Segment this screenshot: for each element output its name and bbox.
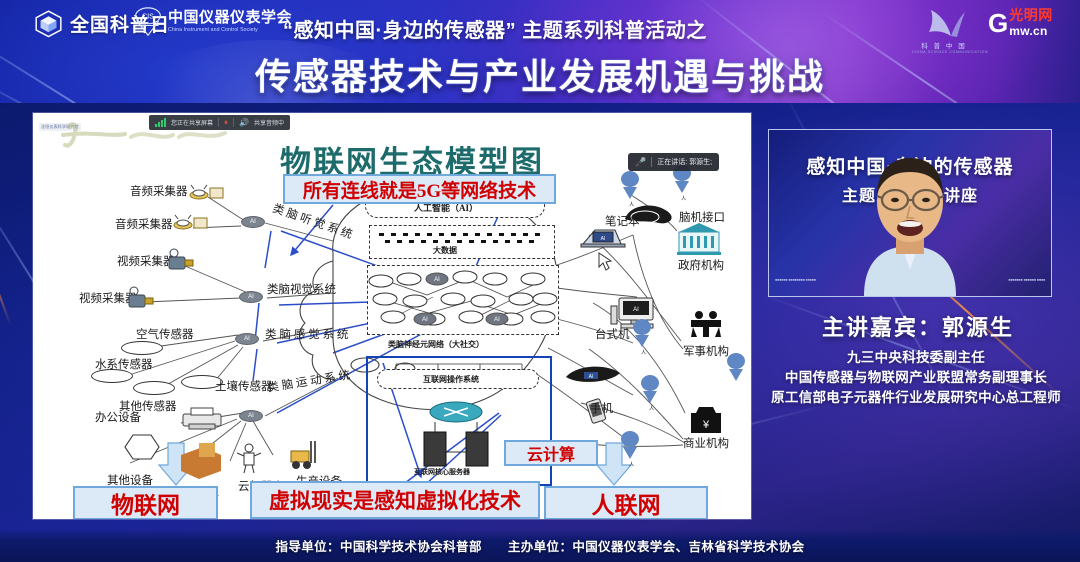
label-audio-collector-1: 音频采集器 [130,183,188,199]
callout-iot: 物联网 [73,486,218,519]
label-water-sensor: 水系传感器 [95,356,153,372]
signal-icon [155,119,166,127]
divider [233,118,234,127]
ai-node: AI [241,216,265,228]
label-audio-collector-2: 音频采集器 [115,216,173,232]
sensor-ellipse [121,341,163,355]
share-status-text: 您正在共享屏幕 [171,118,213,127]
bigdata-dots [369,225,555,259]
share-audio-text: 共享音频中 [254,118,284,127]
logo-science-china-en: CHINA SCIENCE COMMUNICATION [912,50,976,54]
divider [218,118,219,127]
label-video-collector-2: 视频采集器 [79,290,137,306]
ai-node: AI [239,291,263,303]
label-video-collector-1: 视频采集器 [117,253,175,269]
sensor-ellipse [133,381,175,395]
speaker-person-image [846,146,974,296]
svg-text:CIS: CIS [142,13,154,20]
label-person: 人 [649,405,654,412]
label-bci: 脑机接口 [679,209,725,225]
divider [651,157,652,167]
label-air-sensor: 空气传感器 [136,326,194,342]
stage-background: 沈阳仪表科学研究院 您正在共享屏幕 ⏸ 🔊 共享音频中 🎤 正在讲话: 郭源生;… [0,103,1080,562]
page-header: 全国科普日 CIS 中国仪器仪表学会 China Instrument and … [0,0,1080,103]
microphone-icon: 🎤 [635,157,646,168]
label-office-equipment: 办公设备 [95,409,141,425]
pause-share-icon[interactable]: ⏸ [224,119,228,127]
footer-guide-unit: 指导单位：中国科学技术协会科普部 [275,536,481,555]
active-speaker-text: 正在讲话: 郭源生; [657,157,712,167]
callout-vr: 虚拟现实是感知虚拟化技术 [250,481,540,519]
speaker-title-line: 原工信部电子元器件行业发展研究中心总工程师 [752,388,1080,408]
svg-text:AI: AI [494,317,500,323]
svg-text:AI: AI [434,277,440,283]
label-person: 人 [629,201,634,208]
logo-science-china: 科 普 中 国 CHINA SCIENCE COMMUNICATION [912,8,976,54]
logo-cis-en: China Instrument and Control Society [168,28,292,33]
speaker-video-tile[interactable]: 感知中国·身边的传感器 主题系列科普讲座 ■■■■■■ ■■■■■■■■ ■■■… [768,129,1052,297]
shared-screen-slide[interactable]: 沈阳仪表科学研究院 您正在共享屏幕 ⏸ 🔊 共享音频中 🎤 正在讲话: 郭源生;… [33,113,751,519]
header-main-title: 传感器技术与产业发展机遇与挑战 [0,48,1080,100]
callout-people-net: 人联网 [544,486,708,519]
header-subtitle: “感知中国·身边的传感器” 主题系列科普活动之 [283,14,803,43]
ai-node: AI [239,410,263,422]
active-speaker-chip: 🎤 正在讲话: 郭源生; [628,153,719,171]
label-laptop: 笔记本 [605,213,640,229]
speaker-icon[interactable]: 🔊 [239,119,249,127]
logo-gmw-cn: 光明网 [1009,10,1053,24]
callout-5g-network: 所有连线就是5G等网络技术 [283,174,556,204]
label-neuron-network: 类脑神经元网络（大社交） [388,339,484,350]
label-brain-visual: 类脑视觉系统 [267,281,336,297]
callout-cloud-computing: 云计算 [504,440,598,466]
cis-emblem-icon: CIS [133,6,163,38]
speaker-name: 主讲嘉宾：郭源生 [768,310,1068,342]
label-person: 人 [681,195,686,202]
label-government: 政府机构 [678,257,724,273]
logo-cis: CIS 中国仪器仪表学会 China Instrument and Contro… [133,6,292,38]
label-person: 人 [629,461,634,468]
ai-node: AI [235,333,259,345]
logo-gmw-g: G [988,12,1008,35]
label-internet-server: 互联网核心服务器 [414,467,470,477]
logo-gmw: G 光明网 mw.cn [988,10,1053,37]
speaker-titles: 九三中央科技委副主任 中国传感器与物联网产业联盟常务副理事长 原工信部电子元器件… [752,348,1080,408]
label-bigdata: 大数据 [433,245,457,256]
logo-gmw-en: mw.cn [1009,25,1053,37]
svg-text:AI: AI [422,317,428,323]
page-footer: 指导单位：中国科学技术协会科普部 主办单位：中国仪器仪表学会、吉林省科学技术协会 [0,529,1080,562]
screen-share-toolbar[interactable]: 您正在共享屏幕 ⏸ 🔊 共享音频中 [149,115,290,130]
label-brain-sensory: 类 脑 感 觉 系 统 [265,326,348,342]
label-business: 商业机构 [683,435,729,451]
label-phone: 手机 [590,400,613,416]
label-desktop: 台式机 [595,326,630,342]
logo-cis-cn: 中国仪器仪表学会 [168,10,292,25]
speaker-title-line: 中国传感器与物联网产业联盟常务副理事长 [752,368,1080,388]
neuron-nodes: AIAIAI [367,265,559,335]
speaker-title-line: 九三中央科技委副主任 [752,348,1080,368]
science-china-wing-icon [912,8,976,38]
label-person: 人 [641,349,646,356]
label-military: 军事机构 [683,343,729,359]
label-soil-sensor: 土壤传感器 [215,378,273,394]
footer-host-unit: 主办单位：中国仪器仪表学会、吉林省科学技术协会 [508,536,805,555]
logo-science-china-cn: 科 普 中 国 [912,40,976,50]
cube-icon [34,9,63,38]
